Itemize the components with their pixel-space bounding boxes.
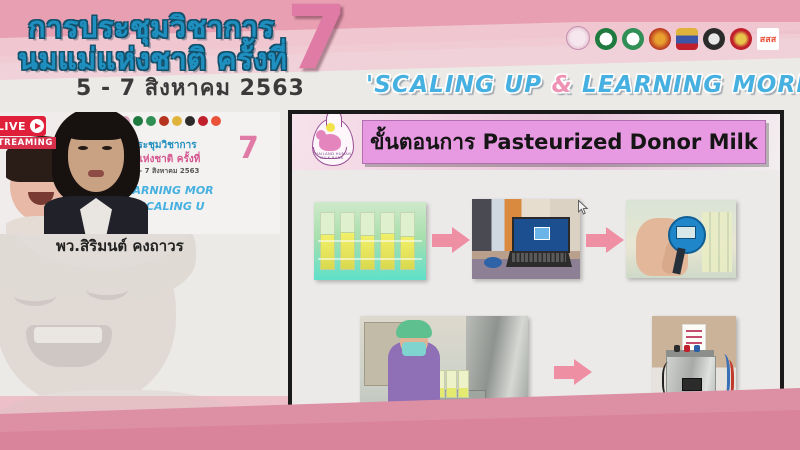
presentation-slide-panel: THAILAND HUMAN MILK BANK ขั้นตอนการ Past… (288, 110, 784, 435)
university-seal-logo (703, 28, 725, 50)
tagline-ampersand: & (552, 72, 573, 98)
play-icon (30, 119, 44, 133)
red-institute-logo (730, 28, 752, 50)
royal-college-crest-logo (649, 28, 671, 50)
royal-emblem-logo (676, 28, 698, 50)
streaming-label: STREAMING (0, 137, 56, 149)
conference-date: 5 - 7 สิงหาคม 2563 (76, 70, 305, 105)
slide-title-text: ขั้นตอนการ Pasteurized Donor Milk (370, 126, 758, 159)
photo-laptop-data-entry (472, 199, 580, 279)
conference-edition-number: 7 (286, 0, 347, 82)
tagline-suffix: LEARNING MORE' (573, 72, 800, 98)
speaker-video-feed (42, 112, 150, 234)
photo-hand-holding-timer (626, 200, 736, 278)
process-arrow-2 (586, 227, 624, 253)
slide-title-banner: ขั้นตอนการ Pasteurized Donor Milk (362, 120, 766, 164)
mouse-cursor (578, 200, 589, 216)
human-milk-bank-drop-logo: THAILAND HUMAN MILK BANK (304, 116, 360, 172)
broadcast-slide-screen: การประชุมวิชาการ นมแม่แห่งชาติ ครั้งที่ … (0, 0, 800, 450)
thaihealth-sss-logo: สสส (757, 28, 779, 50)
live-streaming-badge: LIVE STREAMING (0, 116, 48, 154)
process-arrow-3 (554, 359, 592, 385)
department-of-health-logo (622, 28, 644, 50)
tagline-prefix: 'SCALING UP (366, 72, 552, 98)
poster-edition-number: 7 (238, 134, 259, 164)
thai-breastfeeding-foundation-logo (566, 26, 590, 50)
process-arrow-1 (432, 227, 470, 253)
conference-tagline: 'SCALING UP & LEARNING MORE' (366, 72, 800, 98)
photo-milk-bottle-racks (314, 202, 426, 280)
ministry-of-public-health-logo (595, 28, 617, 50)
organization-logo-strip: สสส (566, 26, 779, 50)
speaker-name-label: พว.สิริมนต์ คงถาวร (56, 234, 184, 258)
logo-ring-text: THAILAND HUMAN MILK BANK (307, 152, 357, 172)
